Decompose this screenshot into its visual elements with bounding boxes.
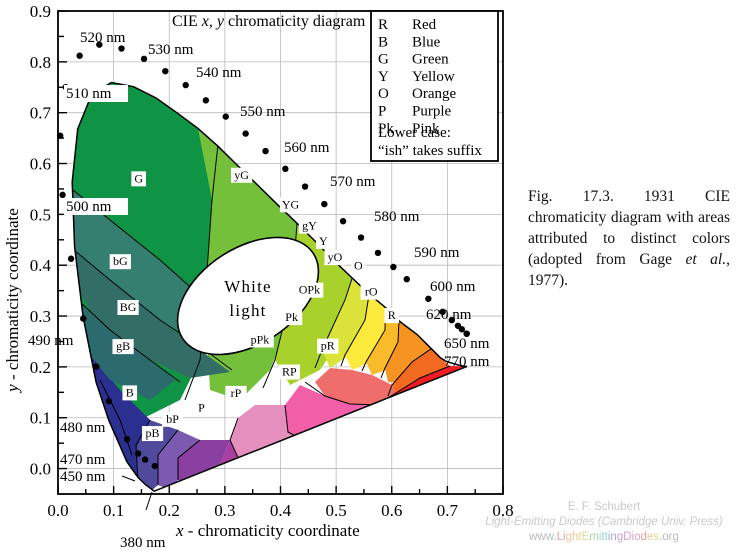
svg-text:600 nm: 600 nm <box>430 279 476 295</box>
legend-name: Orange <box>412 86 456 102</box>
attribution-book-title: Light-Emitting Diodes <box>485 516 594 528</box>
legend-name: Blue <box>412 34 441 50</box>
wavelength-label: 550 nm <box>240 104 286 120</box>
svg-text:470 nm: 470 nm <box>60 452 106 468</box>
plot-title: CIE x, y chromaticity diagram <box>172 13 366 30</box>
svg-text:510 nm: 510 nm <box>66 86 112 102</box>
region-label-rO: rO <box>361 285 382 300</box>
caption-line-2: chromaticity diagram <box>528 209 662 226</box>
wavelength-label: 770 nm <box>444 354 490 370</box>
svg-text:570 nm: 570 nm <box>330 174 376 190</box>
y-tick-label: 0.5 <box>30 205 51 224</box>
attribution-website: www.LightEmittingDiodes.org <box>470 530 738 545</box>
region-label-Y: Y <box>316 234 331 249</box>
legend-key: O <box>378 86 389 102</box>
svg-text:pPk: pPk <box>251 333 270 347</box>
x-tick-label: 0.1 <box>103 501 124 520</box>
legend-key: Y <box>378 69 389 85</box>
svg-text:R: R <box>388 308 396 322</box>
svg-text:P: P <box>198 401 205 415</box>
svg-text:450 nm: 450 nm <box>60 469 106 485</box>
wavelength-label: 600 nm <box>430 279 476 295</box>
wavelength-label: 450 nm <box>60 469 106 485</box>
svg-text:500 nm: 500 nm <box>66 199 112 215</box>
attribution-author: E. F. Schubert <box>470 500 738 515</box>
y-tick-label: 0.2 <box>30 358 51 377</box>
y-tick-label: 0.0 <box>30 460 51 479</box>
svg-text:620 nm: 620 nm <box>426 307 472 323</box>
y-tick-label: 0.4 <box>30 256 52 275</box>
figure-caption: Fig. 17.3. 1931 CIE chromaticity diagram… <box>528 186 730 291</box>
svg-text:560 nm: 560 nm <box>284 140 330 156</box>
attribution-publisher: (Cambridge Univ. Press) <box>595 516 723 528</box>
svg-text:650 nm: 650 nm <box>444 336 490 352</box>
svg-text:RP: RP <box>282 365 297 379</box>
svg-text:BG: BG <box>120 300 137 314</box>
region-label-yO: yO <box>324 250 345 265</box>
region-label-R: R <box>384 308 399 323</box>
svg-text:gY: gY <box>302 219 317 233</box>
svg-text:Y: Y <box>319 234 328 248</box>
region-label-Pk: Pk <box>281 310 302 325</box>
wavelength-label: 520 nm <box>80 30 126 46</box>
region-label-YG: YG <box>280 197 301 212</box>
x-tick-label: 0.5 <box>326 501 347 520</box>
region-label-yG: yG <box>231 168 252 183</box>
region-label-rP: rP <box>225 386 246 401</box>
wavelength-label: 580 nm <box>374 209 420 225</box>
y-tick-label: 0.9 <box>30 2 51 21</box>
svg-text:bG: bG <box>113 254 128 268</box>
caption-line-5: (adopted from Gage <box>528 251 672 268</box>
svg-text:530 nm: 530 nm <box>148 42 194 58</box>
legend-key: P <box>378 104 386 120</box>
region-label-pR: pR <box>317 339 338 354</box>
white-light-label-line2: light <box>229 301 266 320</box>
region-label-O: O <box>351 258 366 273</box>
svg-text:pR: pR <box>321 339 335 353</box>
legend-key: B <box>378 34 388 50</box>
region-label-BG: BG <box>117 300 138 315</box>
y-tick-label: 0.3 <box>30 307 51 326</box>
wavelength-label: 650 nm <box>444 336 490 352</box>
svg-text:OPk: OPk <box>299 283 320 297</box>
x-tick-label: 0.2 <box>159 501 180 520</box>
caption-citation-italic: et al. <box>686 251 727 268</box>
svg-text:bP: bP <box>166 412 179 426</box>
svg-text:Pk: Pk <box>285 310 298 324</box>
legend-name: Purple <box>412 104 452 120</box>
wavelength-label: 480 nm <box>60 420 106 436</box>
region-label-pB: pB <box>142 426 163 441</box>
wavelength-label: 500 nm <box>64 198 128 215</box>
y-tick-label: 0.1 <box>30 409 51 428</box>
region-label-OPk: OPk <box>296 283 324 298</box>
wavelength-label: 540 nm <box>196 65 242 81</box>
svg-text:rP: rP <box>231 386 242 400</box>
region-label-P: P <box>194 401 209 416</box>
region-label-bG: bG <box>110 254 131 269</box>
wavelength-label: 570 nm <box>330 174 376 190</box>
svg-text:480 nm: 480 nm <box>60 420 106 436</box>
svg-text:yG: yG <box>234 168 249 182</box>
x-tick-label: 0.4 <box>270 501 292 520</box>
wavelength-label: 380 nm <box>120 535 166 551</box>
x-axis-label: x - chromaticity coordinate <box>175 521 360 540</box>
wavelength-label: 560 nm <box>284 140 330 156</box>
attribution-url-brand: LightEmittingDiodes <box>557 531 659 543</box>
y-tick-label: 0.8 <box>30 53 51 72</box>
region-label-pPk: pPk <box>246 333 274 348</box>
region-label-RP: RP <box>279 365 300 380</box>
x-tick-label: 0.6 <box>381 501 402 520</box>
region-label-gY: gY <box>299 219 320 234</box>
attribution-block: E. F. Schubert Light-Emitting Diodes (Ca… <box>470 500 738 545</box>
region-label-B: B <box>122 385 137 400</box>
y-axis-label: y - chromaticity coordinate <box>3 208 22 394</box>
legend-note-1: Lower case: <box>378 125 451 141</box>
svg-text:yO: yO <box>328 250 343 264</box>
legend-note-2: “ish” takes suffix <box>378 143 482 159</box>
region-label-gB: gB <box>112 339 133 354</box>
wavelength-label: 620 nm <box>426 307 472 323</box>
legend-box: RRedBBlueGGreenYYellowOOrangePPurplePkPi… <box>371 11 498 161</box>
svg-text:540 nm: 540 nm <box>196 65 242 81</box>
attribution-url-prefix: www. <box>529 531 556 543</box>
svg-text:590 nm: 590 nm <box>414 245 460 261</box>
caption-line-4: to distinct colors <box>603 230 730 247</box>
legend-key: G <box>378 52 389 68</box>
x-tick-label: 0.3 <box>214 501 235 520</box>
svg-text:B: B <box>126 385 134 399</box>
legend-name: Green <box>412 52 449 68</box>
svg-text:O: O <box>354 258 363 272</box>
legend-name: Yellow <box>412 69 455 85</box>
x-tick-label: 0.7 <box>437 501 459 520</box>
region-label-G: G <box>131 171 146 186</box>
legend-key: R <box>378 17 388 33</box>
svg-text:550 nm: 550 nm <box>240 104 286 120</box>
svg-text:pB: pB <box>146 426 160 440</box>
svg-text:520 nm: 520 nm <box>80 30 126 46</box>
y-tick-label: 0.7 <box>30 104 52 123</box>
title-pre: CIE <box>172 13 202 30</box>
x-tick-label: 0.0 <box>47 501 68 520</box>
svg-text:770 nm: 770 nm <box>444 354 490 370</box>
svg-text:490 nm: 490 nm <box>28 333 74 349</box>
attribution-url-suffix: .org <box>659 531 679 543</box>
y-tick-label: 0.6 <box>30 155 51 174</box>
wavelength-label: 470 nm <box>60 452 106 468</box>
wavelength-label: 530 nm <box>148 42 194 58</box>
wavelength-label: 510 nm <box>64 85 128 102</box>
region-label-bP: bP <box>162 412 183 427</box>
wavelength-label: 590 nm <box>414 245 460 261</box>
svg-text:YG: YG <box>282 197 300 211</box>
svg-text:G: G <box>134 171 143 185</box>
svg-text:580 nm: 580 nm <box>374 209 420 225</box>
wavelength-label: 490 nm <box>28 333 74 349</box>
svg-text:rO: rO <box>365 285 378 299</box>
white-light-label-line1: White <box>224 277 272 296</box>
legend-name: Red <box>412 17 437 33</box>
caption-line-1: Fig. 17.3. 1931 CIE <box>528 188 730 205</box>
svg-text:380 nm: 380 nm <box>120 535 166 551</box>
svg-text:gB: gB <box>116 339 130 353</box>
